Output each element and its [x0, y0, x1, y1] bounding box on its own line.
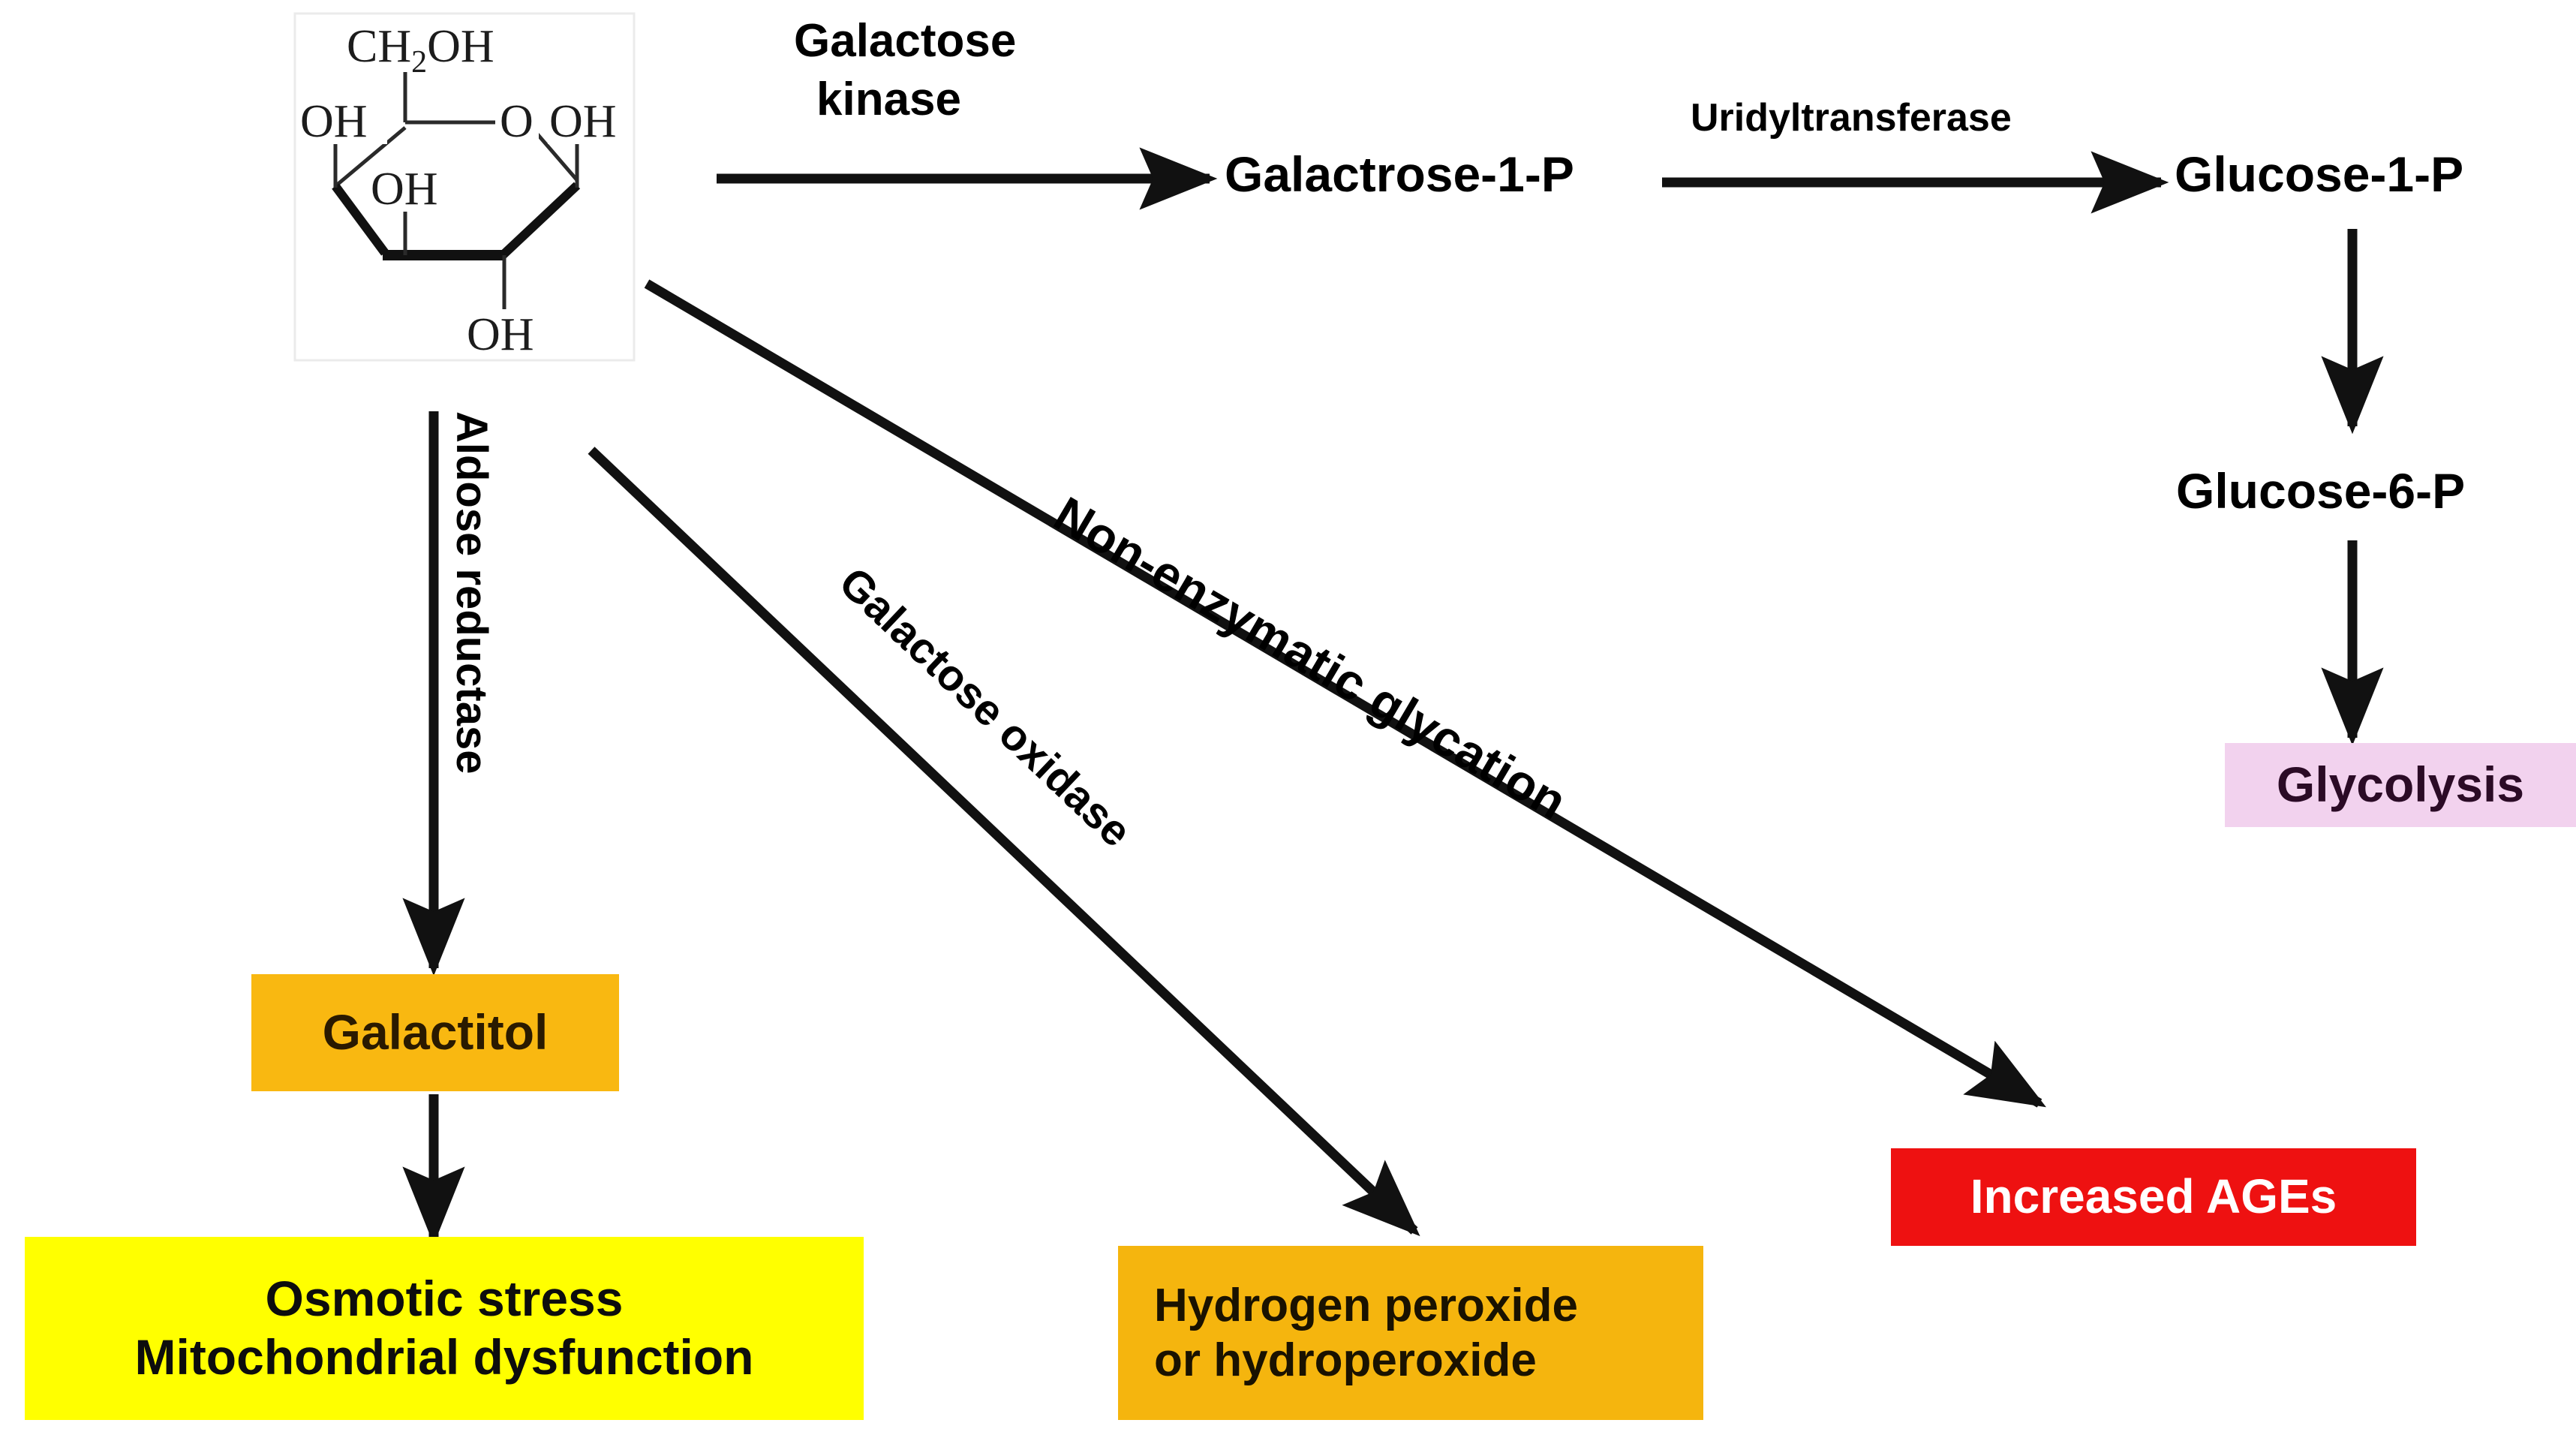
molecule-label-oh-inner: OH	[371, 164, 438, 215]
box-galactitol[interactable]: Galactitol	[251, 974, 619, 1091]
node-label-galactose-1-p: Galactrose-1-P	[1225, 147, 1574, 203]
molecule-label-ring-o: O	[500, 96, 534, 147]
pathway-diagram: CH2OH OH O OH OH OH Galactose kinase Uri…	[0, 0, 2576, 1450]
node-label-glucose-6-p: Glucose-6-P	[2176, 464, 2465, 519]
box-glycolysis[interactable]: Glycolysis	[2225, 743, 2576, 827]
molecule-label-oh-bottom: OH	[467, 309, 534, 360]
box-osmotic-stress-line1: Osmotic stress	[266, 1270, 624, 1328]
node-label-glucose-1-p: Glucose-1-P	[2175, 147, 2463, 203]
box-hydrogen-peroxide[interactable]: Hydrogen peroxide or hydroperoxide	[1118, 1246, 1703, 1420]
box-osmotic-stress[interactable]: Osmotic stress Mitochondrial dysfunction	[25, 1237, 864, 1420]
box-increased-ages[interactable]: Increased AGEs	[1891, 1148, 2416, 1246]
enzyme-label-uridyltransferase: Uridyltransferase	[1691, 96, 2012, 140]
box-hydrogen-peroxide-line1: Hydrogen peroxide	[1154, 1278, 1578, 1333]
molecule-label-oh-left: OH	[300, 96, 368, 147]
box-hydrogen-peroxide-line2: or hydroperoxide	[1154, 1333, 1537, 1388]
molecule-label-oh-right: OH	[549, 96, 617, 147]
enzyme-label-galactose-kinase-line1: Galactose	[794, 15, 1016, 67]
enzyme-label-aldose-reductase: Aldose reductase	[446, 411, 495, 775]
box-osmotic-stress-line2: Mitochondrial dysfunction	[135, 1328, 754, 1387]
enzyme-label-galactose-kinase-line2: kinase	[816, 74, 961, 125]
